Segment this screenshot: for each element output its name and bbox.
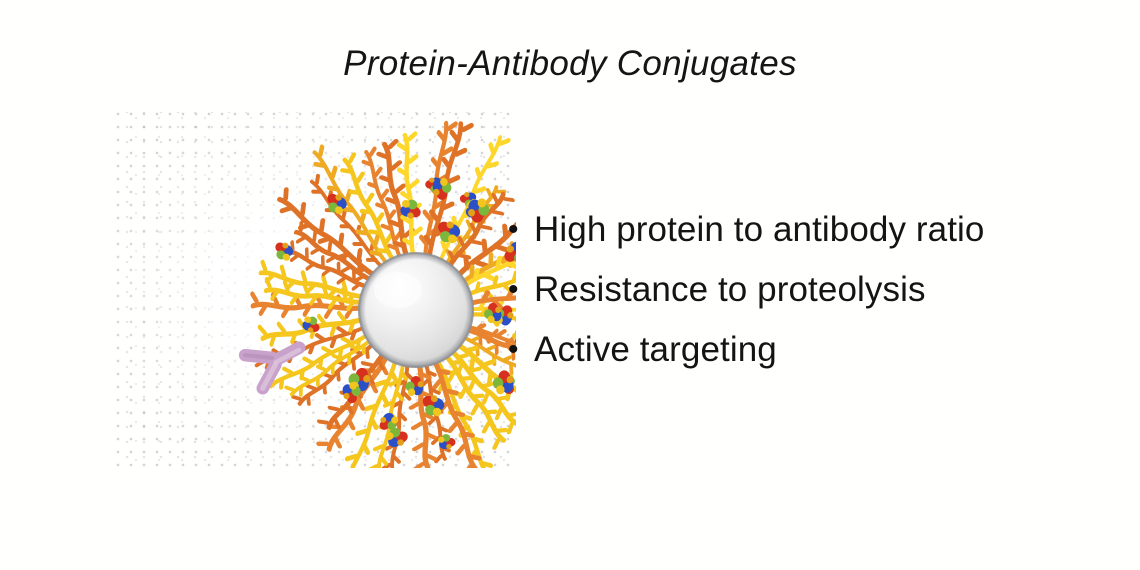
- bullet-marker-icon: •: [508, 268, 534, 312]
- nanoparticle-figure: [116, 112, 516, 468]
- nanoparticle-core: [359, 253, 473, 367]
- page-title: Protein-Antibody Conjugates: [0, 44, 1140, 84]
- list-item: • Active targeting: [508, 328, 1068, 372]
- bullet-marker-icon: •: [508, 208, 534, 252]
- slide-canvas: Protein-Antibody Conjugates: [0, 0, 1140, 570]
- list-item: • High protein to antibody ratio: [508, 208, 1068, 252]
- bullet-label: Resistance to proteolysis: [534, 268, 986, 312]
- bullet-label: Active targeting: [534, 328, 986, 372]
- bullet-label: High protein to antibody ratio: [534, 208, 986, 252]
- bullet-marker-icon: •: [508, 328, 534, 372]
- nanoparticle-illustration: [116, 112, 516, 468]
- list-item: • Resistance to proteolysis: [508, 268, 1068, 312]
- bullet-list: • High protein to antibody ratio • Resis…: [508, 208, 1068, 388]
